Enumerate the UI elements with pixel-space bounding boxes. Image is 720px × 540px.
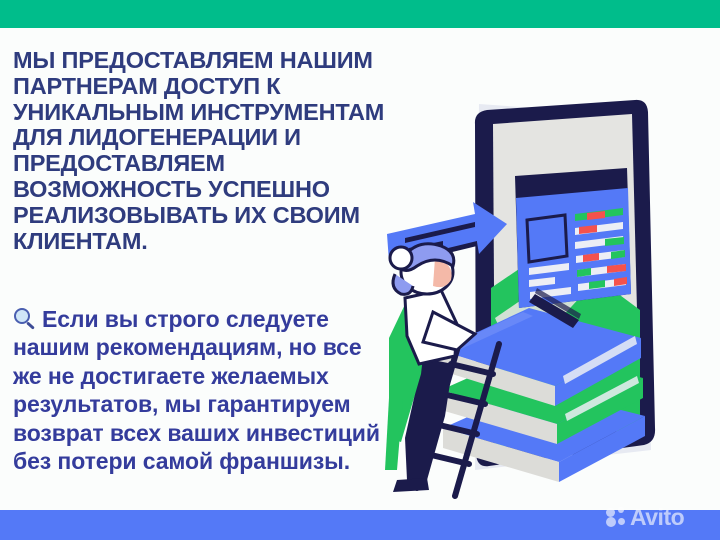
body-line-3: же не достигаете желаемых [13,362,408,390]
person-shoe [393,478,429,492]
headline-line-8: КЛИЕНТАМ. [13,229,423,255]
headline-line-1: МЫ ПРЕДОСТАВЛЯЕМ НАШИМ [13,48,423,74]
body-line-5: возврат всех ваших инвестиций [13,419,408,447]
page-title: МЫ ПРЕДОСТАВЛЯЕМ НАШИМ ПАРТНЕРАМ ДОСТУП … [13,48,423,254]
headline-line-6: ВОЗМОЖНОСТЬ УСПЕШНО [13,177,423,203]
headline-line-3: УНИКАЛЬНЫМ ИНСТРУМЕНТАМ [13,100,423,126]
body-line-1-text: Если вы строго следуете [42,306,329,332]
hero-illustration [383,98,720,510]
promo-card: МЫ ПРЕДОСТАВЛЯЕМ НАШИМ ПАРТНЕРАМ ДОСТУП … [0,0,720,540]
headline-line-2: ПАРТНЕРАМ ДОСТУП К [13,74,423,100]
body-copy: Если вы строго следуете нашим рекомендац… [13,305,408,475]
body-line-6: без потери самой франшизы. [13,447,408,475]
headline-line-4: ДЛЯ ЛИДОГЕНЕРАЦИИ И [13,125,423,151]
headline-line-7: РЕАЛИЗОВЫВАТЬ ИХ СВОИМ [13,203,423,229]
dashboard-thumbnail [527,215,567,262]
bottom-brand-bar [0,510,720,540]
person-hair-bun [390,247,412,269]
body-line-2: нашим рекомендациям, но все [13,333,408,361]
top-brand-bar [0,0,720,28]
headline-line-5: ПРЕДОСТАВЛЯЕМ [13,151,423,177]
body-line-1: Если вы строго следуете [13,305,408,333]
magnifying-glass-icon [13,307,40,331]
body-line-4: результатов, мы гарантируем [13,390,408,418]
